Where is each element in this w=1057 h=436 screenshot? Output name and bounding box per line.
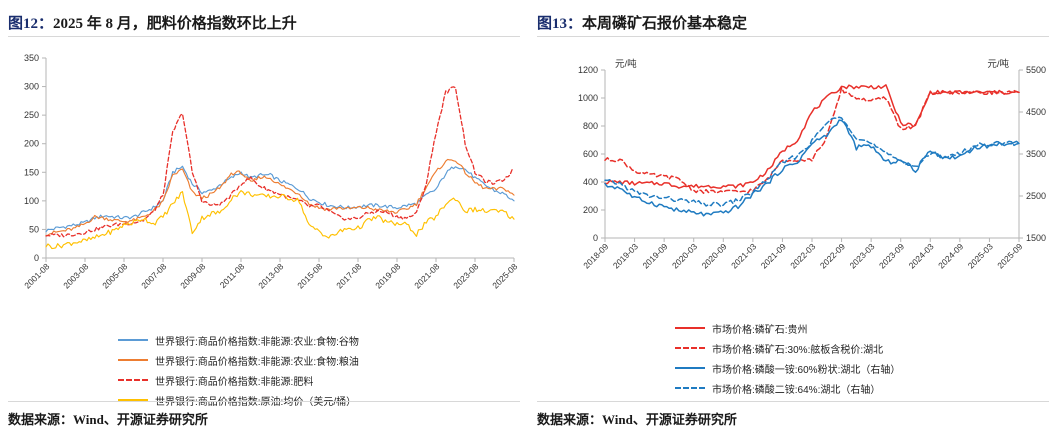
figure-12-source: 数据来源：Wind、开源证券研究所	[8, 409, 208, 428]
page-root: 图12：2025 年 8 月，肥料价格指数环比上升 05010015020025…	[0, 0, 1057, 436]
svg-text:250: 250	[24, 110, 39, 120]
legend-label-phosphate-guizhou: 市场价格:磷矿石:贵州	[712, 321, 808, 336]
figure-12-svg: 0501001502002503003502001-082003-082005-…	[0, 46, 528, 296]
svg-text:5500: 5500	[1026, 65, 1046, 75]
svg-text:2500: 2500	[1026, 191, 1046, 201]
legend-item: 世界银行:商品价格指数:原油:均价（美元/桶）	[118, 390, 359, 410]
figure-13-bottom-rule	[537, 401, 1049, 402]
figure-12-top-rule	[8, 36, 520, 37]
svg-text:2019-09: 2019-09	[640, 241, 669, 270]
svg-text:2023-08: 2023-08	[451, 261, 480, 290]
svg-text:2022-09: 2022-09	[818, 241, 847, 270]
figure-12-legend: 世界银行:商品价格指数:非能源:农业:食物:谷物 世界银行:商品价格指数:非能源…	[118, 330, 359, 410]
legend-label-phosphate-hubei: 市场价格:磷矿石:30%:舷板含税价:湖北	[712, 341, 883, 356]
svg-text:2017-08: 2017-08	[334, 261, 363, 290]
figure-12-title-text: 2025 年 8 月，肥料价格指数环比上升	[53, 16, 297, 32]
legend-item: 市场价格:磷矿石:30%:舷板含税价:湖北	[675, 338, 900, 358]
legend-item: 世界银行:商品价格指数:非能源:肥料	[118, 370, 359, 390]
figure-13-legend: 市场价格:磷矿石:贵州 市场价格:磷矿石:30%:舷板含税价:湖北 市场价格:磷…	[675, 318, 900, 398]
svg-text:2015-08: 2015-08	[295, 261, 324, 290]
legend-label-grain: 世界银行:商品价格指数:非能源:农业:食物:谷物	[155, 333, 359, 348]
legend-item: 市场价格:磷酸一铵:60%粉状:湖北（右轴）	[675, 358, 900, 378]
svg-text:2023-03: 2023-03	[847, 241, 876, 270]
svg-text:2007-08: 2007-08	[139, 261, 168, 290]
svg-text:2022-03: 2022-03	[788, 241, 817, 270]
svg-text:2024-09: 2024-09	[936, 241, 965, 270]
svg-text:2023-09: 2023-09	[877, 241, 906, 270]
svg-text:150: 150	[24, 167, 39, 177]
svg-text:1000: 1000	[578, 93, 598, 103]
figure-12-plot: 0501001502002503003502001-082003-082005-…	[0, 46, 528, 296]
svg-text:600: 600	[583, 149, 598, 159]
legend-label-dap: 市场价格:磷酸二铵:64%:湖北（右轴）	[712, 381, 880, 396]
svg-text:2013-08: 2013-08	[256, 261, 285, 290]
legend-label-oils: 世界银行:商品价格指数:非能源:农业:食物:粮油	[155, 353, 359, 368]
svg-text:2018-09: 2018-09	[581, 241, 610, 270]
svg-text:2019-03: 2019-03	[611, 241, 640, 270]
svg-text:2009-08: 2009-08	[178, 261, 207, 290]
svg-text:2003-08: 2003-08	[61, 261, 90, 290]
legend-label-map: 市场价格:磷酸一铵:60%粉状:湖北（右轴）	[712, 361, 900, 376]
svg-text:800: 800	[583, 121, 598, 131]
figure-12-title-number: 图12：	[8, 16, 53, 32]
svg-text:2021-03: 2021-03	[729, 241, 758, 270]
svg-text:2005-08: 2005-08	[100, 261, 129, 290]
svg-text:200: 200	[24, 139, 39, 149]
legend-item: 世界银行:商品价格指数:非能源:农业:食物:粮油	[118, 350, 359, 370]
figure-13-panel: 图13：本周磷矿石报价基本稳定 020040060080010001200150…	[529, 0, 1057, 436]
svg-text:0: 0	[593, 233, 598, 243]
figure-13-svg: 0200400600800100012001500250035004500550…	[529, 46, 1057, 296]
svg-text:2025-03: 2025-03	[966, 241, 995, 270]
legend-label-fertilizer: 世界银行:商品价格指数:非能源:肥料	[155, 373, 313, 388]
legend-item: 市场价格:磷矿石:贵州	[675, 318, 900, 338]
figure-13-plot: 0200400600800100012001500250035004500550…	[529, 46, 1057, 296]
svg-text:元/吨: 元/吨	[615, 58, 637, 70]
svg-text:2020-09: 2020-09	[700, 241, 729, 270]
figure-13-title-number: 图13：	[537, 16, 582, 32]
figure-13-title-text: 本周磷矿石报价基本稳定	[582, 16, 747, 32]
svg-text:1500: 1500	[1026, 233, 1046, 243]
svg-text:4500: 4500	[1026, 107, 1046, 117]
svg-text:2021-09: 2021-09	[759, 241, 788, 270]
svg-text:100: 100	[24, 196, 39, 206]
svg-text:2025-09: 2025-09	[995, 241, 1024, 270]
svg-text:0: 0	[34, 253, 39, 263]
svg-text:2025-08: 2025-08	[490, 261, 519, 290]
figure-12-panel: 图12：2025 年 8 月，肥料价格指数环比上升 05010015020025…	[0, 0, 528, 436]
svg-text:2019-08: 2019-08	[373, 261, 402, 290]
figure-12-bottom-rule	[8, 401, 520, 402]
svg-text:2011-08: 2011-08	[218, 261, 247, 290]
svg-text:2021-08: 2021-08	[412, 261, 441, 290]
svg-text:400: 400	[583, 177, 598, 187]
legend-item: 市场价格:磷酸二铵:64%:湖北（右轴）	[675, 378, 900, 398]
figure-13-title: 图13：本周磷矿石报价基本稳定	[537, 12, 1049, 33]
svg-text:350: 350	[24, 53, 39, 63]
svg-text:3500: 3500	[1026, 149, 1046, 159]
figure-13-source: 数据来源：Wind、开源证券研究所	[537, 409, 737, 428]
figure-12-title: 图12：2025 年 8 月，肥料价格指数环比上升	[8, 12, 520, 33]
svg-text:2020-03: 2020-03	[670, 241, 699, 270]
svg-text:50: 50	[29, 224, 39, 234]
legend-label-crude: 世界银行:商品价格指数:原油:均价（美元/桶）	[155, 393, 356, 408]
svg-text:2024-03: 2024-03	[907, 241, 936, 270]
svg-text:元/吨: 元/吨	[987, 58, 1009, 70]
svg-text:1200: 1200	[578, 65, 598, 75]
figure-13-top-rule	[537, 36, 1049, 37]
legend-item: 世界银行:商品价格指数:非能源:农业:食物:谷物	[118, 330, 359, 350]
svg-text:300: 300	[24, 82, 39, 92]
svg-text:200: 200	[583, 205, 598, 215]
svg-text:2001-08: 2001-08	[22, 261, 51, 290]
